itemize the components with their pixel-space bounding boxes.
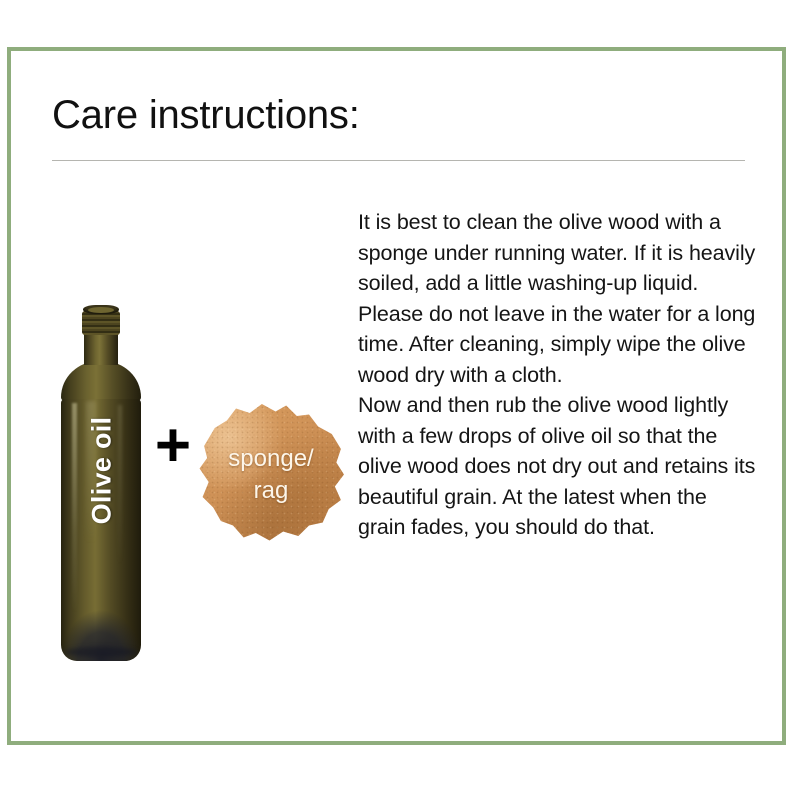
bottle-mouth-opening xyxy=(88,307,114,313)
sponge-label-line-2: rag xyxy=(195,475,347,507)
sponge-label-line-1: sponge/ xyxy=(195,443,347,475)
plus-icon: + xyxy=(150,420,196,472)
sponge-label-text: sponge/ rag xyxy=(195,443,347,507)
bottle-base-edge xyxy=(65,647,137,657)
care-instructions-card: Care instructions: Olive oil + sponge/ xyxy=(0,0,800,800)
instructions-paragraph-2: Now and then rub the olive wood lightly … xyxy=(358,390,756,543)
title-divider xyxy=(52,160,745,161)
page-title: Care instructions: xyxy=(52,92,360,138)
bottle-thread xyxy=(82,311,120,335)
olive-oil-bottle-image: Olive oil xyxy=(55,305,147,670)
bottle-highlight-left xyxy=(72,403,77,613)
bottle-neck xyxy=(84,333,118,365)
sponge-rag-image: sponge/ rag xyxy=(195,395,347,545)
bottle-highlight-right xyxy=(118,405,122,605)
instructions-paragraph-1: It is best to clean the olive wood with … xyxy=(358,207,756,390)
care-illustration: Olive oil + sponge/ rag xyxy=(40,300,350,700)
bottle-label-text: Olive oil xyxy=(87,386,118,556)
instructions-text-column: It is best to clean the olive wood with … xyxy=(358,207,756,543)
